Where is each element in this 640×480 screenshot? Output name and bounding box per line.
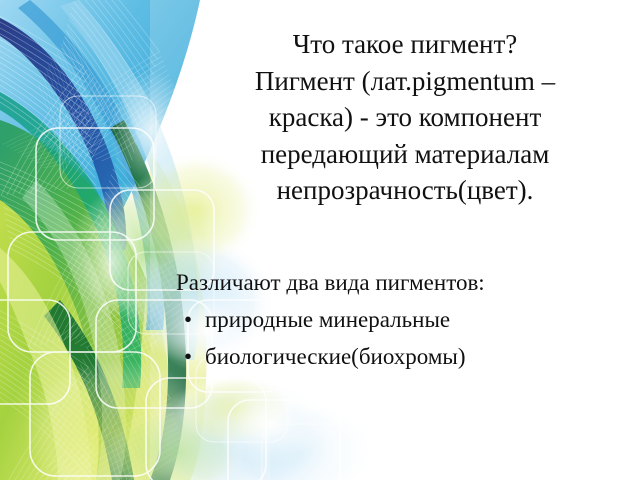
body-lead-text: Различают два вида пигментов: (176, 264, 636, 301)
list-item-label: природные минеральные (205, 307, 450, 332)
slide-body: Различают два вида пигментов: • природны… (176, 264, 636, 375)
list-item: • биологические(биохромы) (176, 338, 636, 375)
slide-canvas: Что такое пигмент? Пигмент (лат.pigmentu… (0, 0, 640, 480)
title-line-3: краска) - это компонент (175, 99, 635, 136)
title-line-1: Что такое пигмент? (175, 26, 635, 63)
slide-title: Что такое пигмент? Пигмент (лат.pigmentu… (175, 26, 635, 209)
slide-content: Что такое пигмент? Пигмент (лат.pigmentu… (0, 0, 640, 480)
bullet-icon: • (184, 338, 192, 375)
list-item-label: биологические(биохромы) (205, 344, 466, 369)
title-line-5: непрозрачность(цвет). (175, 172, 635, 209)
title-line-2: Пигмент (лат.pigmentum – (175, 63, 635, 100)
bullet-icon: • (184, 301, 192, 338)
title-line-4: передающий материалам (175, 136, 635, 173)
list-item: • природные минеральные (176, 301, 636, 338)
